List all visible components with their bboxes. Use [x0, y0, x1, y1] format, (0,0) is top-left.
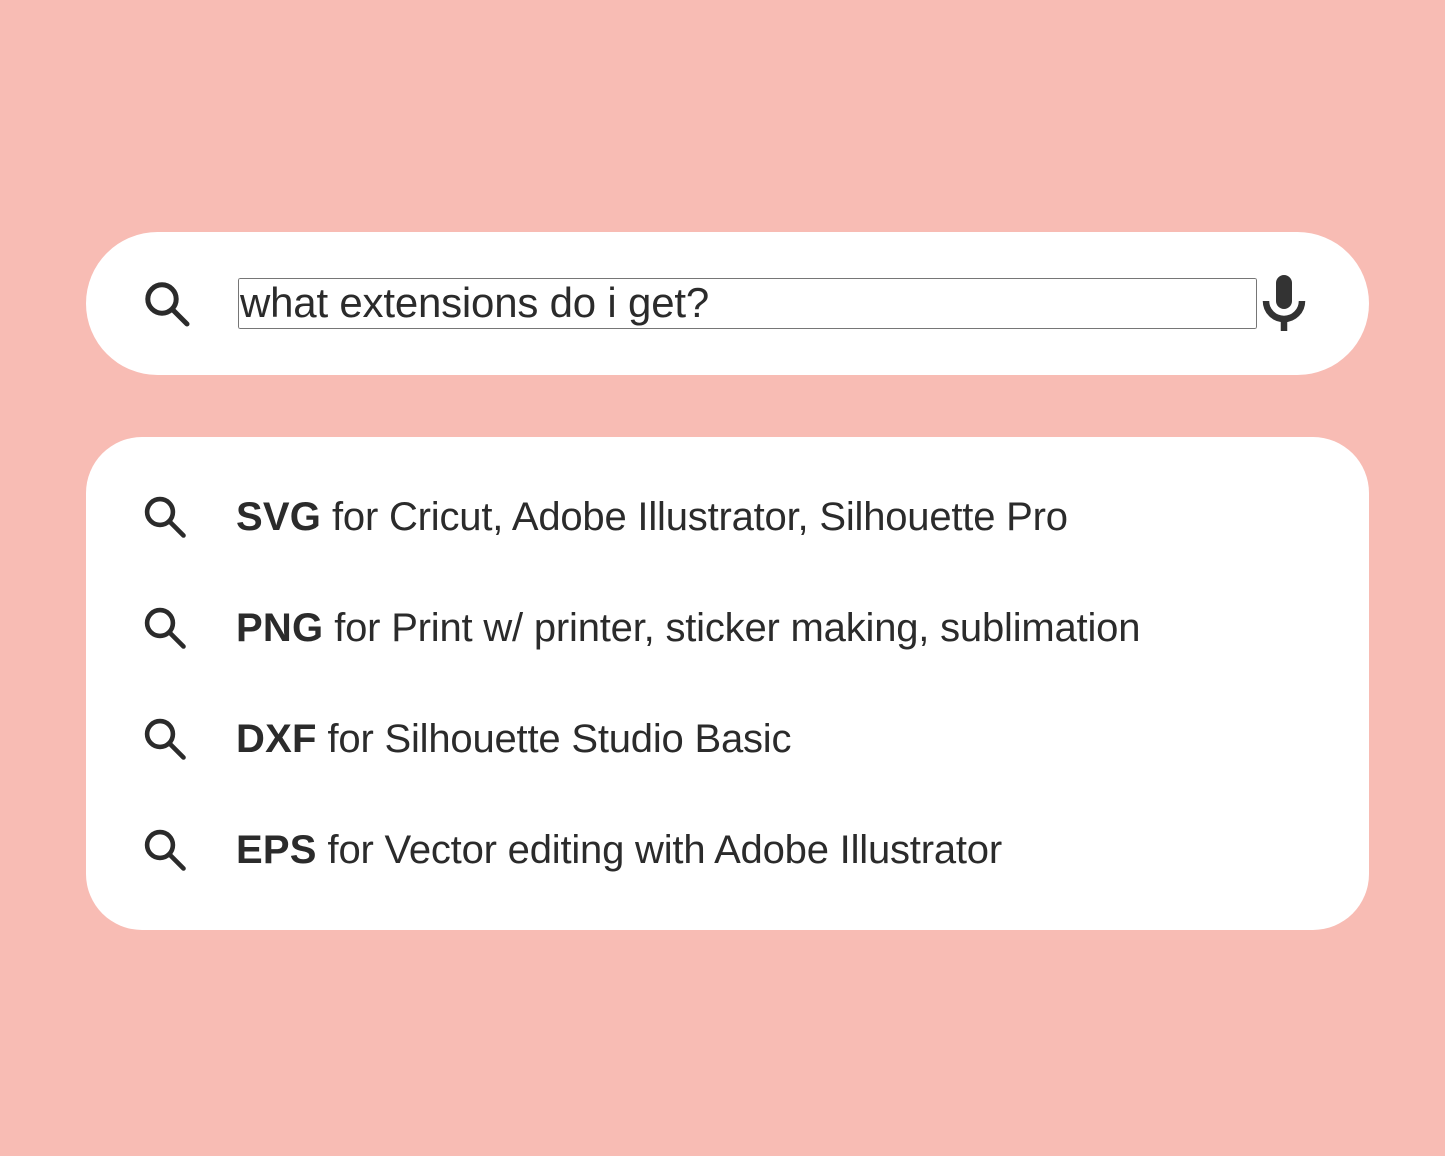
result-row-png[interactable]: PNG for Print w/ printer, sticker making…: [142, 573, 1313, 684]
result-row-svg[interactable]: SVG for Cricut, Adobe Illustrator, Silho…: [142, 462, 1313, 573]
result-format: PNG: [236, 606, 323, 650]
search-icon: [142, 279, 192, 329]
search-results-card: SVG for Cricut, Adobe Illustrator, Silho…: [86, 437, 1369, 930]
result-label: SVG for Cricut, Adobe Illustrator, Silho…: [236, 494, 1068, 540]
search-icon: [142, 494, 188, 540]
search-icon: [142, 827, 188, 873]
result-description: for Vector editing with Adobe Illustrato…: [317, 828, 1002, 872]
result-format: DXF: [236, 717, 317, 761]
search-icon: [142, 605, 188, 651]
result-description: for Cricut, Adobe Illustrator, Silhouett…: [321, 495, 1068, 539]
result-format: SVG: [236, 495, 321, 539]
result-row-eps[interactable]: EPS for Vector editing with Adobe Illust…: [142, 795, 1313, 906]
result-label: PNG for Print w/ printer, sticker making…: [236, 605, 1140, 651]
result-description: for Print w/ printer, sticker making, su…: [323, 606, 1140, 650]
search-icon: [142, 716, 188, 762]
microphone-icon[interactable]: [1257, 273, 1311, 335]
search-bar[interactable]: [86, 232, 1369, 375]
result-row-dxf[interactable]: DXF for Silhouette Studio Basic: [142, 684, 1313, 795]
result-label: EPS for Vector editing with Adobe Illust…: [236, 827, 1002, 873]
result-label: DXF for Silhouette Studio Basic: [236, 716, 791, 762]
search-input[interactable]: [238, 278, 1257, 328]
result-format: EPS: [236, 828, 317, 872]
result-description: for Silhouette Studio Basic: [317, 717, 792, 761]
